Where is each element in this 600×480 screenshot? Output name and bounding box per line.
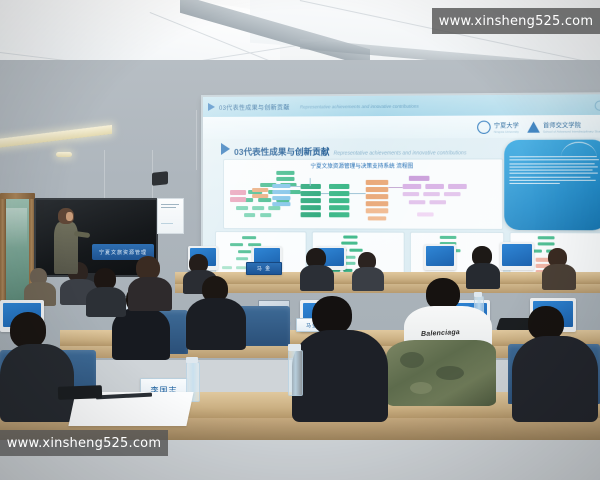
banner-title-en: Representative achievements and innovati… xyxy=(300,103,419,109)
circle-logo-icon xyxy=(477,120,491,133)
monitor xyxy=(424,244,456,270)
door-frame xyxy=(0,195,6,315)
slide-heading-en: Representative achievements and innovati… xyxy=(334,150,467,156)
desk-row-back xyxy=(175,272,600,284)
nameplate: 马 金 xyxy=(246,262,282,275)
logo-school-of-studies: 首师交文学院 School of Advanced Interdisciplin… xyxy=(527,120,600,134)
bottle-cap xyxy=(186,357,198,363)
watermark-bottom-left-text: www.xinsheng525.com xyxy=(7,436,161,451)
logo-1-name-en: Ningxia University xyxy=(494,129,519,133)
door-frame-top xyxy=(0,193,35,199)
camo-spot xyxy=(436,366,464,380)
logo-1-name-zh: 宁夏大学 xyxy=(494,120,519,129)
banner-badge-icon xyxy=(595,100,600,110)
watermark-top-right-text: www.xinsheng525.com xyxy=(439,14,593,29)
wall-poster xyxy=(157,198,184,234)
slide-heading-zh: 03代表性成果与创新贡献 xyxy=(234,146,329,158)
presenter-body xyxy=(54,222,78,274)
ceiling-light-spot xyxy=(56,152,72,157)
banner-triangle-icon xyxy=(208,103,215,111)
camo-spot xyxy=(410,382,432,394)
water-bottle xyxy=(288,350,303,396)
phone xyxy=(58,385,102,400)
desk-row-back-front xyxy=(175,284,600,293)
slide-banner: 03代表性成果与创新贡献 Representative achievements… xyxy=(203,94,600,117)
flowchart-title: 宁夏文旅资源管理与决策支持系统 流程图 xyxy=(224,161,502,170)
slide-logo-bar: 宁夏大学 Ningxia University 首师交文学院 School of… xyxy=(203,115,600,139)
banner-title-zh: 03代表性成果与创新贡献 xyxy=(219,102,290,111)
logo-ningxia-university: 宁夏大学 Ningxia University xyxy=(477,120,519,133)
panel-arc-decor xyxy=(561,142,597,158)
slide-heading: 03代表性成果与创新贡献 Representative achievements… xyxy=(221,142,466,158)
logo-2-name-en: School of Advanced Interdisciplinary Stu… xyxy=(543,129,600,133)
logo-2-name-zh: 首师交文学院 xyxy=(543,120,600,130)
wall-speaker-icon xyxy=(152,171,168,186)
presenter-face xyxy=(66,212,73,221)
monitor xyxy=(500,242,534,270)
bottle-cap xyxy=(474,292,482,297)
heading-triangle-icon xyxy=(221,143,230,155)
triangle-logo-icon xyxy=(527,121,540,132)
slide-text-panel xyxy=(504,140,600,231)
watermark-top-right: www.xinsheng525.com xyxy=(432,8,600,34)
watermark-bottom-left: www.xinsheng525.com xyxy=(0,430,168,456)
flowchart-card: 宁夏文旅资源管理与决策支持系统 流程图 xyxy=(223,158,503,230)
camo-spot xyxy=(400,352,424,368)
photo-scene: 03代表性成果与创新贡献 Representative achievements… xyxy=(0,0,600,480)
bottle-cap xyxy=(288,344,301,351)
